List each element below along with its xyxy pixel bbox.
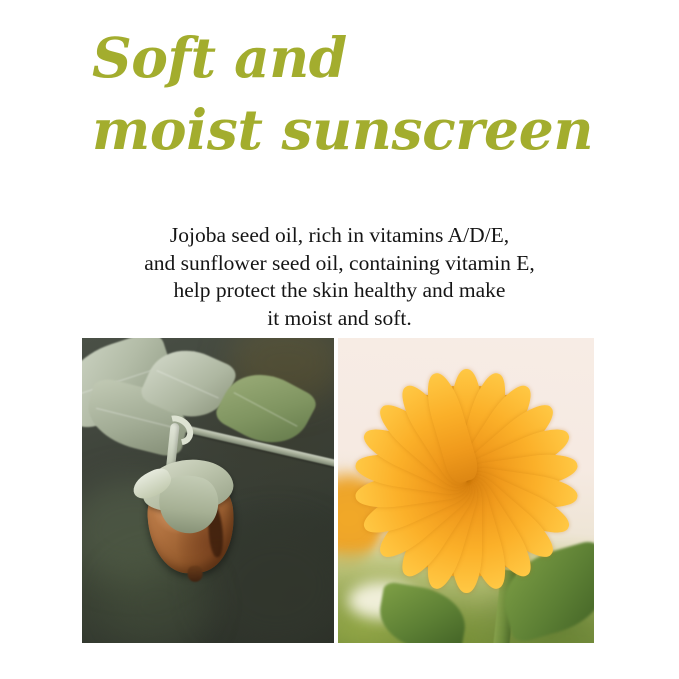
description-line-4: it moist and soft. <box>64 305 615 333</box>
leaf-vein <box>233 391 297 426</box>
photo-strip <box>82 338 594 643</box>
page-title-line-1: Soft and <box>92 22 612 94</box>
sunflower-photo <box>338 338 594 643</box>
product-detail-page: Soft and moist sunscreen Jojoba seed oil… <box>0 0 679 679</box>
jojoba-seed-photo <box>82 338 334 643</box>
description-text: Jojoba seed oil, rich in vitamins A/D/E,… <box>64 222 615 332</box>
page-title-line-2: moist sunscreen <box>92 94 612 166</box>
description-line-1: Jojoba seed oil, rich in vitamins A/D/E, <box>64 222 615 250</box>
sunflower-head <box>339 354 593 608</box>
description-line-2: and sunflower seed oil, containing vitam… <box>64 250 615 278</box>
description-line-3: help protect the skin healthy and make <box>64 277 615 305</box>
page-title: Soft and moist sunscreen <box>92 22 612 166</box>
leaf-vein <box>156 370 218 399</box>
